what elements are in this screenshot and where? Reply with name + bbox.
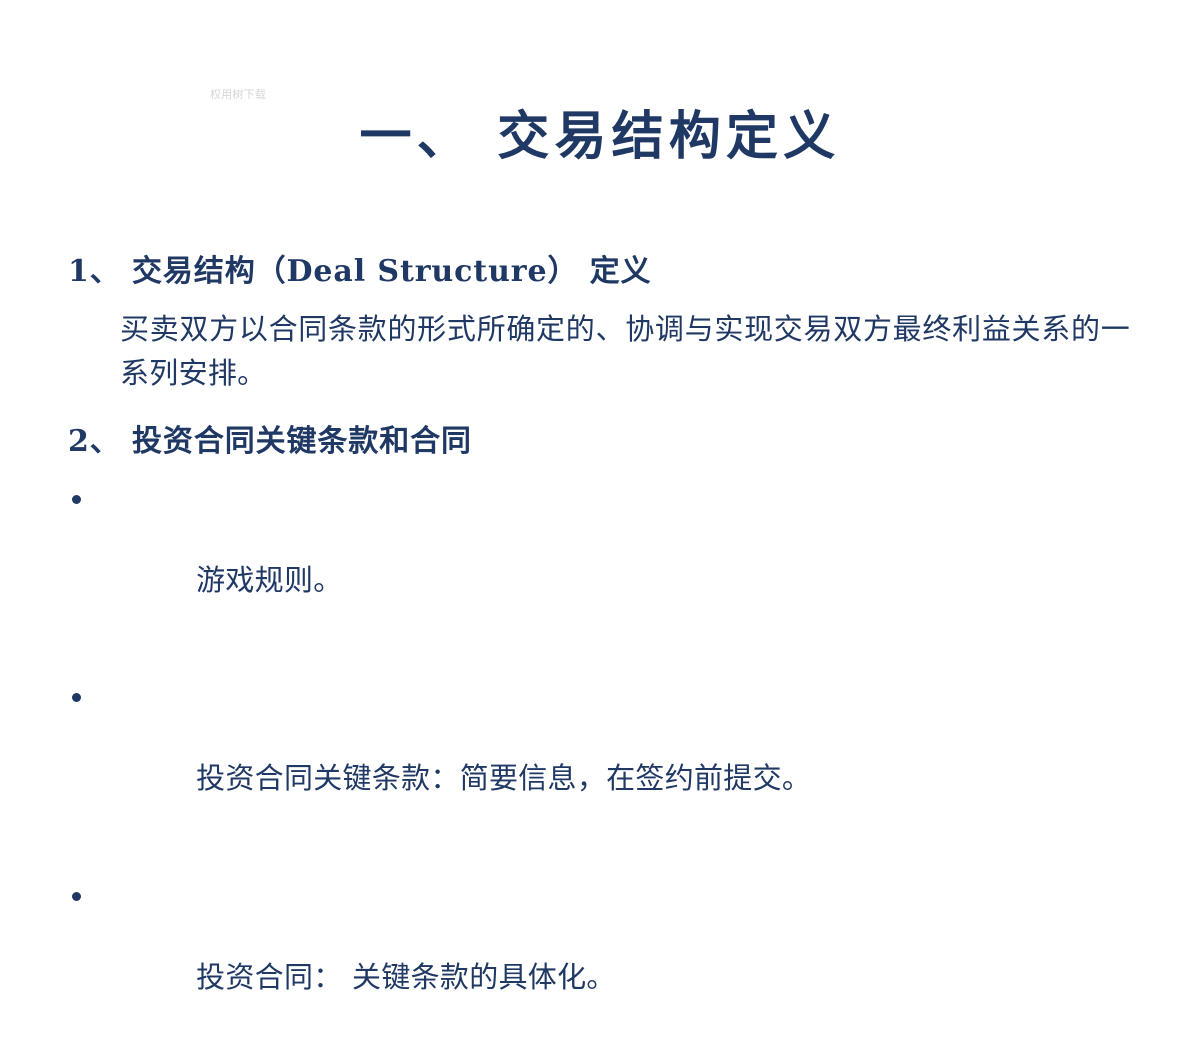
bullet-dot-icon (72, 892, 81, 901)
list-item-label: 投资合同： 关键条款的具体化。 (196, 960, 616, 994)
page-title: 一、 交易结构定义 (360, 107, 841, 167)
bullet-dot-icon (72, 495, 81, 504)
list-item-label: 投资合同关键条款：简要信息，在签约前提交。 (196, 761, 811, 795)
title-zone: 一、 交易结构定义 权用树下载 (0, 72, 1200, 201)
list-item: 投资合同关键条款：简要信息，在签约前提交。 (0, 677, 1200, 839)
slide-body: 1、 交易结构（Deal Structure） 定义 买卖双方以合同条款的形式所… (0, 252, 1200, 1038)
section-1-heading: 1、 交易结构（Deal Structure） 定义 (68, 252, 1200, 293)
bullet-list: 游戏规则。 投资合同关键条款：简要信息，在签约前提交。 投资合同： 关键条款的具… (0, 479, 1200, 1038)
section-2-heading: 2、 投资合同关键条款和合同 (68, 422, 1200, 463)
presentation-slide: 一、 交易结构定义 权用树下载 1、 交易结构（Deal Structure） … (0, 0, 1200, 900)
section-1-paragraph: 买卖双方以合同条款的形式所确定的、协调与实现交易双方最终利益关系的一系列安排。 (120, 307, 1130, 397)
bullet-dot-icon (72, 693, 81, 702)
list-item-label: 游戏规则。 (196, 563, 342, 597)
list-item: 游戏规则。 (0, 479, 1200, 641)
watermark-text: 权用树下载 (210, 86, 266, 102)
